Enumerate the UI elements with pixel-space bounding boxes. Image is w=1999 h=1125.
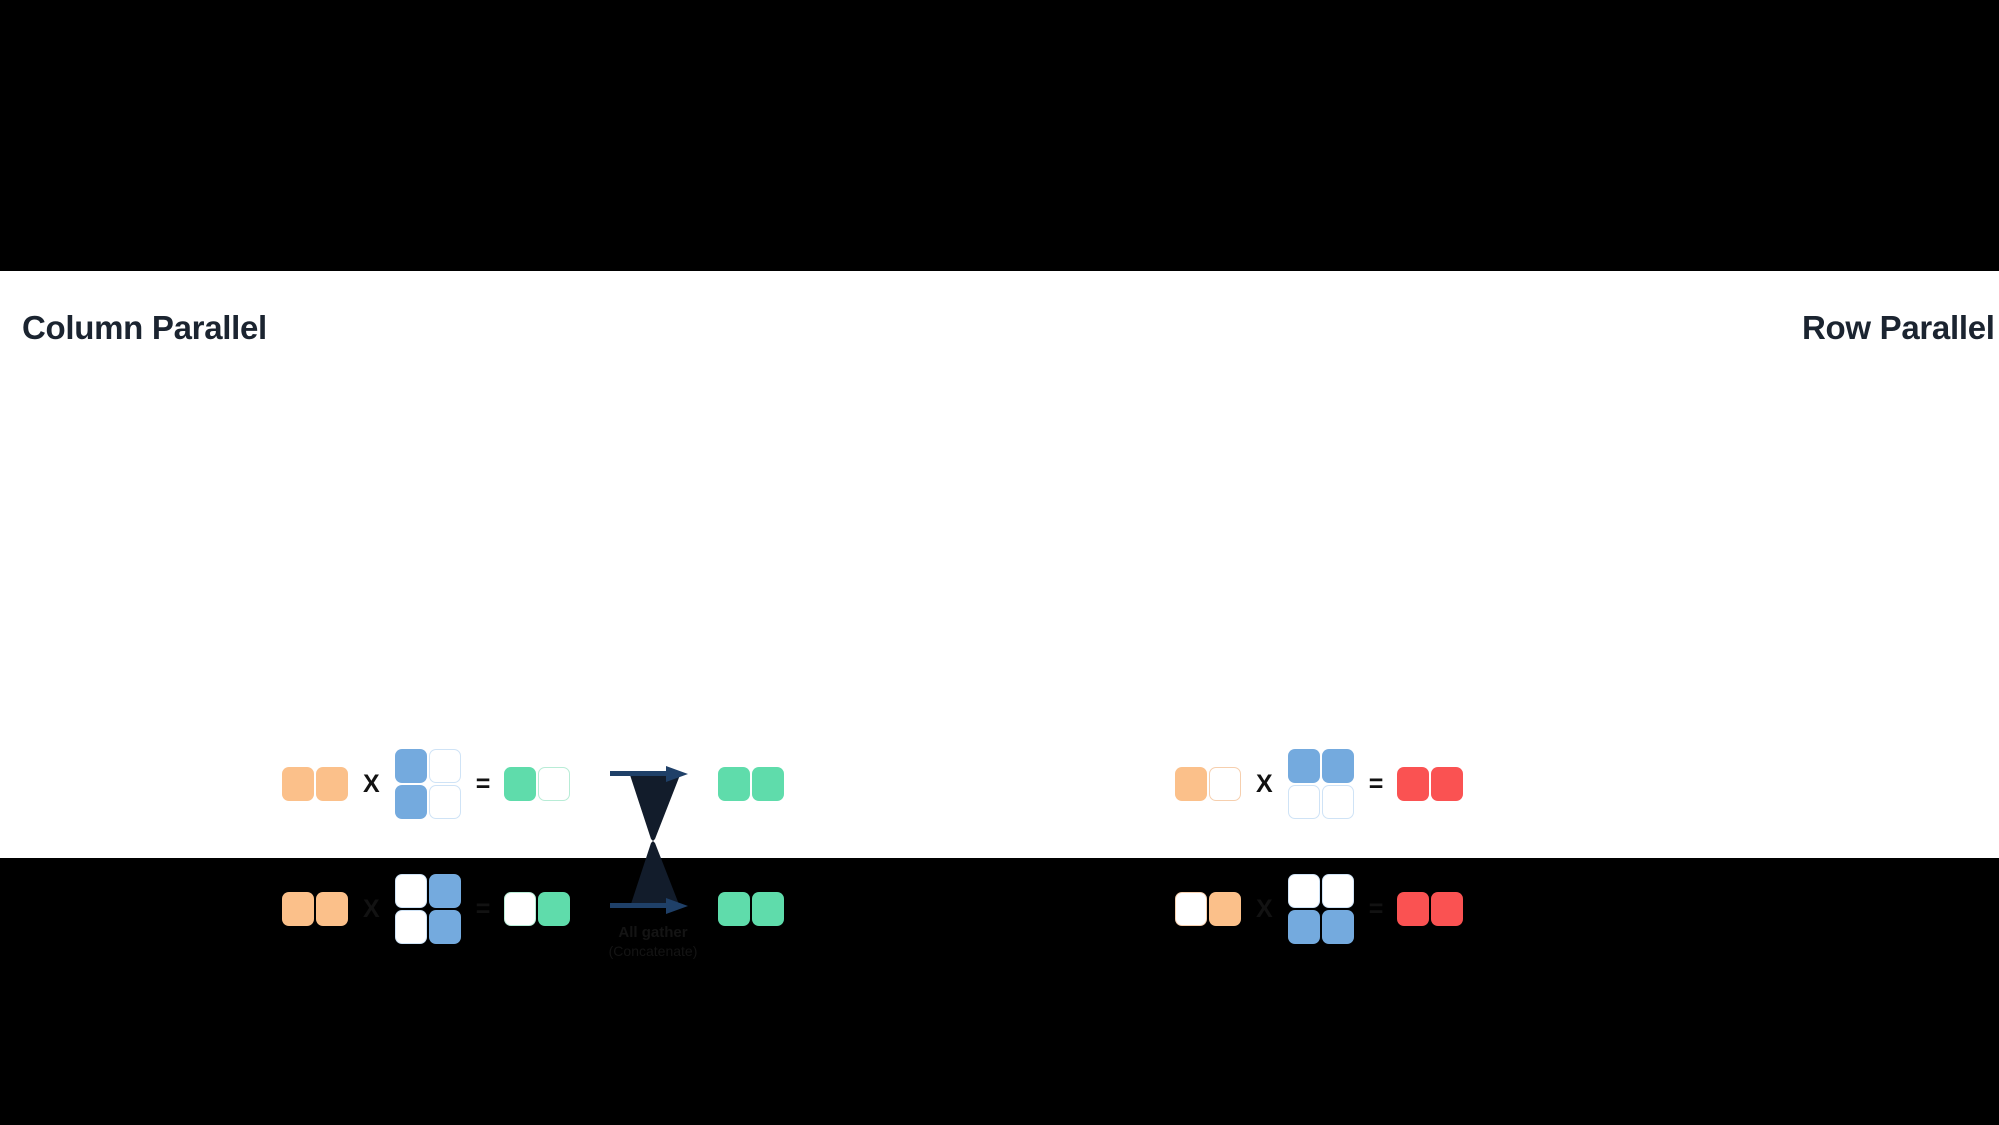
panel-row-parallel: Row Parallel X = [890,271,1999,858]
collective-op-allgather: All gather (Concatenate) [610,761,696,921]
cell-orange [282,767,314,801]
output-vector [1397,767,1463,801]
cell-green [538,892,570,926]
cell-blue [1322,749,1354,783]
cell-blue [429,874,461,908]
cell-red [1397,892,1429,926]
operator-equals: = [1369,772,1383,797]
cell-blue [429,910,461,944]
cell-orange [316,767,348,801]
cell-blue-empty [429,749,461,783]
operator-equals: = [476,897,490,922]
cell-orange [1209,892,1241,926]
letterbox-top [0,0,1999,271]
cell-red [1431,767,1463,801]
cell-green [718,892,750,926]
input-vector [1175,767,1241,801]
cell-orange [282,892,314,926]
cell-blue-empty [1288,874,1320,908]
equation-row: X = [282,748,570,820]
cell-blue-empty [429,785,461,819]
cell-orange [1175,767,1207,801]
cell-blue [1288,910,1320,944]
input-vector [282,892,348,926]
equation-row: X = [282,873,570,945]
final-output-vector [718,892,784,926]
panel-title-column-parallel: Column Parallel [22,309,267,347]
cell-blue [1288,749,1320,783]
cell-blue-empty [1288,785,1320,819]
cell-green [752,892,784,926]
operator-equals: = [1369,897,1383,922]
cell-blue-empty [395,874,427,908]
weight-matrix [395,749,461,819]
collective-op-label: All gather (Concatenate) [609,924,698,960]
input-vector [1175,892,1241,926]
bowtie-allgather-icon [610,761,696,921]
output-vector [504,892,570,926]
operator-equals: = [476,772,490,797]
panel-column-parallel: Column Parallel X = [0,271,900,858]
operator-multiply: X [363,897,380,922]
collective-op-subtitle: (Concatenate) [609,943,698,961]
cell-orange [316,892,348,926]
final-output-vector [718,767,784,801]
operator-multiply: X [1256,772,1273,797]
cell-blue [395,749,427,783]
operator-multiply: X [363,772,380,797]
weight-matrix [395,874,461,944]
output-vector [504,767,570,801]
cell-blue-empty [1322,785,1354,819]
cell-green [718,767,750,801]
cell-green [504,767,536,801]
cell-orange-empty [1209,767,1241,801]
output-vector [1397,892,1463,926]
equation-row: X = [1175,873,1463,945]
diagram-stage: Column Parallel X = [0,271,1999,858]
cell-red [1397,767,1429,801]
weight-matrix [1288,874,1354,944]
cell-orange-empty [1175,892,1207,926]
weight-matrix [1288,749,1354,819]
collective-op-name: All gather [609,924,698,943]
equation-row: X = [1175,748,1463,820]
cell-red [1431,892,1463,926]
input-vector [282,767,348,801]
panel-title-row-parallel: Row Parallel [1802,309,1995,347]
operator-multiply: X [1256,897,1273,922]
cell-blue [1322,910,1354,944]
cell-blue-empty [395,910,427,944]
cell-green-empty [538,767,570,801]
cell-blue-empty [1322,874,1354,908]
cell-green [752,767,784,801]
cell-blue [395,785,427,819]
cell-green-empty [504,892,536,926]
